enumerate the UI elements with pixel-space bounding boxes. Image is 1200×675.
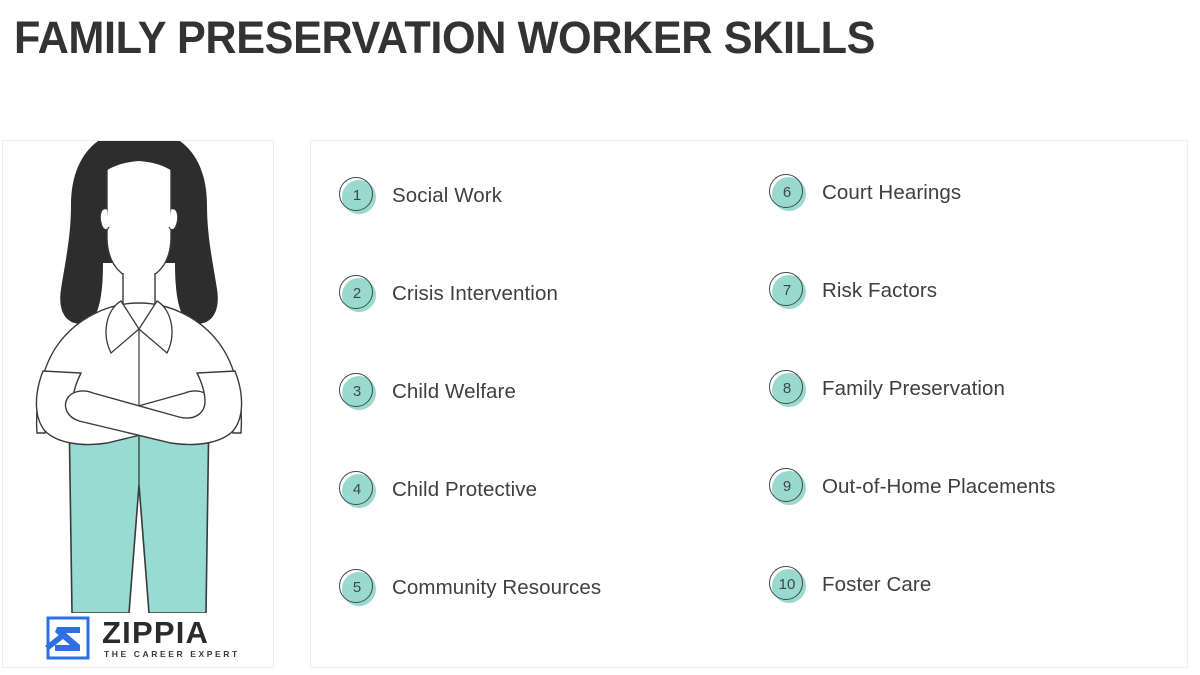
badge-number: 8 (769, 370, 805, 406)
skill-label: Family Preservation (822, 377, 1005, 401)
zippia-name: ZIPPIA (102, 618, 240, 648)
skill-label: Out-of-Home Placements (822, 475, 1055, 499)
skill-row[interactable]: 1Social Work (338, 173, 502, 219)
zippia-tagline: THE CAREER EXPERT (102, 648, 240, 660)
skill-label: Risk Factors (822, 279, 937, 303)
skill-row[interactable]: 9Out-of-Home Placements (768, 464, 1055, 510)
skill-number-badge: 2 (338, 274, 378, 314)
skill-row[interactable]: 5Community Resources (338, 565, 601, 611)
skills-panel: 1Social Work2Crisis Intervention3Child W… (310, 140, 1188, 668)
badge-number: 4 (339, 471, 375, 507)
skill-number-badge: 7 (768, 271, 808, 311)
skill-row[interactable]: 10Foster Care (768, 562, 931, 608)
badge-number: 2 (339, 275, 375, 311)
skill-row[interactable]: 4Child Protective (338, 467, 537, 513)
skill-row[interactable]: 6Court Hearings (768, 170, 961, 216)
skill-label: Child Protective (392, 478, 537, 502)
skill-number-badge: 6 (768, 173, 808, 213)
skill-row[interactable]: 3Child Welfare (338, 369, 516, 415)
skill-label: Court Hearings (822, 181, 961, 205)
infographic-canvas: FAMILY PRESERVATION WORKER SKILLS (0, 0, 1200, 675)
skill-label: Community Resources (392, 576, 601, 600)
skill-row[interactable]: 7Risk Factors (768, 268, 937, 314)
skill-label: Crisis Intervention (392, 282, 558, 306)
badge-number: 7 (769, 272, 805, 308)
zippia-z-mark-icon (44, 614, 92, 662)
badge-number: 3 (339, 373, 375, 409)
skill-row[interactable]: 8Family Preservation (768, 366, 1005, 412)
badge-number: 1 (339, 177, 375, 213)
skill-number-badge: 3 (338, 372, 378, 412)
skill-label: Foster Care (822, 573, 931, 597)
badge-number: 10 (769, 566, 805, 602)
person-illustration (3, 140, 274, 613)
skill-number-badge: 5 (338, 568, 378, 608)
skill-label: Social Work (392, 184, 502, 208)
skill-number-badge: 9 (768, 467, 808, 507)
skill-number-badge: 10 (768, 565, 808, 605)
illustration-panel (2, 140, 274, 668)
skill-number-badge: 1 (338, 176, 378, 216)
skill-label: Child Welfare (392, 380, 516, 404)
zippia-logo[interactable]: ZIPPIA THE CAREER EXPERT (44, 612, 244, 664)
skill-number-badge: 4 (338, 470, 378, 510)
badge-number: 5 (339, 569, 375, 605)
badge-number: 6 (769, 174, 805, 210)
skill-row[interactable]: 2Crisis Intervention (338, 271, 558, 317)
skill-number-badge: 8 (768, 369, 808, 409)
page-title: FAMILY PRESERVATION WORKER SKILLS (14, 12, 875, 64)
zippia-wordmark: ZIPPIA THE CAREER EXPERT (102, 616, 240, 660)
badge-number: 9 (769, 468, 805, 504)
